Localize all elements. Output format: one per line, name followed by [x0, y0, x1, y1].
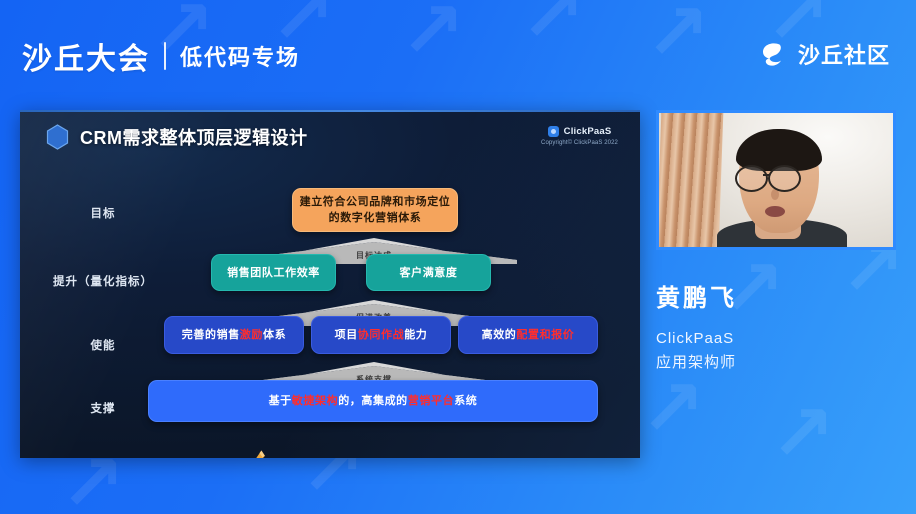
vendor-copyright: Copyright© ClickPaaS 2022 — [541, 140, 618, 146]
watermark-arrow-icon: ↗ — [640, 370, 705, 448]
webcam-speaker-glasses-left — [735, 165, 768, 192]
enable-box-text-pre: 项目 — [335, 327, 358, 343]
speaker-role: 应用架构师 — [656, 351, 906, 375]
speaker-organization: ClickPaaS — [656, 327, 906, 351]
support-box-text-highlight-2: 营销平台 — [408, 393, 454, 409]
vendor-logo: ClickPaaS Copyright© ClickPaaS 2022 — [541, 126, 618, 146]
webcam-speaker-glasses-bridge — [763, 174, 770, 176]
support-box-text-highlight-1: 敏捷架构 — [292, 393, 338, 409]
enable-box-sales-incentive: 完善的销售激励体系 — [164, 316, 304, 354]
goal-box-line1: 建立符合公司品牌和市场定位 — [300, 194, 451, 210]
watermark-arrow-icon: ↗ — [770, 395, 835, 473]
vendor-name: ClickPaaS — [564, 126, 612, 137]
webcam-speaker-mouth — [765, 206, 785, 217]
event-branding: 沙丘大会 低代码专场 — [22, 34, 300, 78]
event-subtitle: 低代码专场 — [180, 40, 300, 72]
enable-box-project-collaboration: 项目协同作战能力 — [311, 316, 451, 354]
kpi-box-sales-efficiency: 销售团队工作效率 — [211, 254, 336, 291]
speaker-name: 黄鹏飞 — [656, 278, 906, 313]
goal-box-line2: 的数字化营销体系 — [329, 210, 422, 226]
enable-box-text-pre: 完善的销售 — [182, 327, 240, 343]
vendor-logo-row: ClickPaaS — [541, 126, 618, 137]
enable-box-config-quote: 高效的配置和报价 — [458, 316, 598, 354]
support-box-text-pre: 基于 — [269, 393, 292, 409]
slide-canvas: CRM需求整体顶层逻辑设计 ClickPaaS Copyright© Click… — [20, 110, 640, 458]
event-title: 沙丘大会 — [22, 34, 150, 78]
slide-title-row: CRM需求整体顶层逻辑设计 — [46, 124, 308, 150]
event-header: 沙丘大会 低代码专场 沙丘社区 — [0, 0, 916, 104]
slide-top-accent-line — [20, 110, 640, 112]
enable-box-text-pre: 高效的 — [482, 327, 517, 343]
speaker-webcam — [656, 110, 896, 250]
support-box-marketing-platform: 基于敏捷架构的，高集成的营销平台系统 — [148, 380, 598, 422]
enable-box-text-highlight: 激励 — [240, 327, 263, 343]
community-logo-text: 沙丘社区 — [798, 38, 890, 70]
enable-box-text-highlight: 协同作战 — [358, 327, 404, 343]
title-divider — [164, 42, 166, 70]
dune-s-logo-icon — [758, 39, 788, 69]
community-logo: 沙丘社区 — [758, 38, 890, 70]
hexagon-icon — [46, 124, 69, 150]
row-label-improve: 提升（量化指标） — [38, 273, 168, 289]
clickpaas-logo-icon — [548, 126, 559, 137]
enable-box-text-highlight: 配置和报价 — [516, 327, 574, 343]
kpi-box-customer-satisfaction: 客户满意度 — [366, 254, 491, 291]
support-box-text-post: 系统 — [454, 393, 477, 409]
slide-title: CRM需求整体顶层逻辑设计 — [80, 124, 308, 150]
support-box-text-mid: 的，高集成的 — [338, 393, 408, 409]
webcam-speaker-glasses-right — [768, 165, 801, 192]
webcam-window-blinds — [657, 113, 724, 247]
presentation-stage: ↗ ↗ ↗ ↗ ↗ ↗ ↗ ↗ ↗ ↗ ↗ ↗ ↗ ↗ 沙丘大会 低代码专场 沙… — [0, 0, 916, 514]
enable-box-text-post: 能力 — [404, 327, 427, 343]
speaker-info: 黄鹏飞 ClickPaaS 应用架构师 — [656, 278, 906, 375]
row-label-goal: 目标 — [38, 205, 168, 221]
enable-box-text-post: 体系 — [263, 327, 286, 343]
goal-box: 建立符合公司品牌和市场定位 的数字化营销体系 — [292, 188, 458, 232]
row-label-enable: 使能 — [38, 337, 168, 353]
pencil-pointer-icon — [247, 448, 269, 458]
